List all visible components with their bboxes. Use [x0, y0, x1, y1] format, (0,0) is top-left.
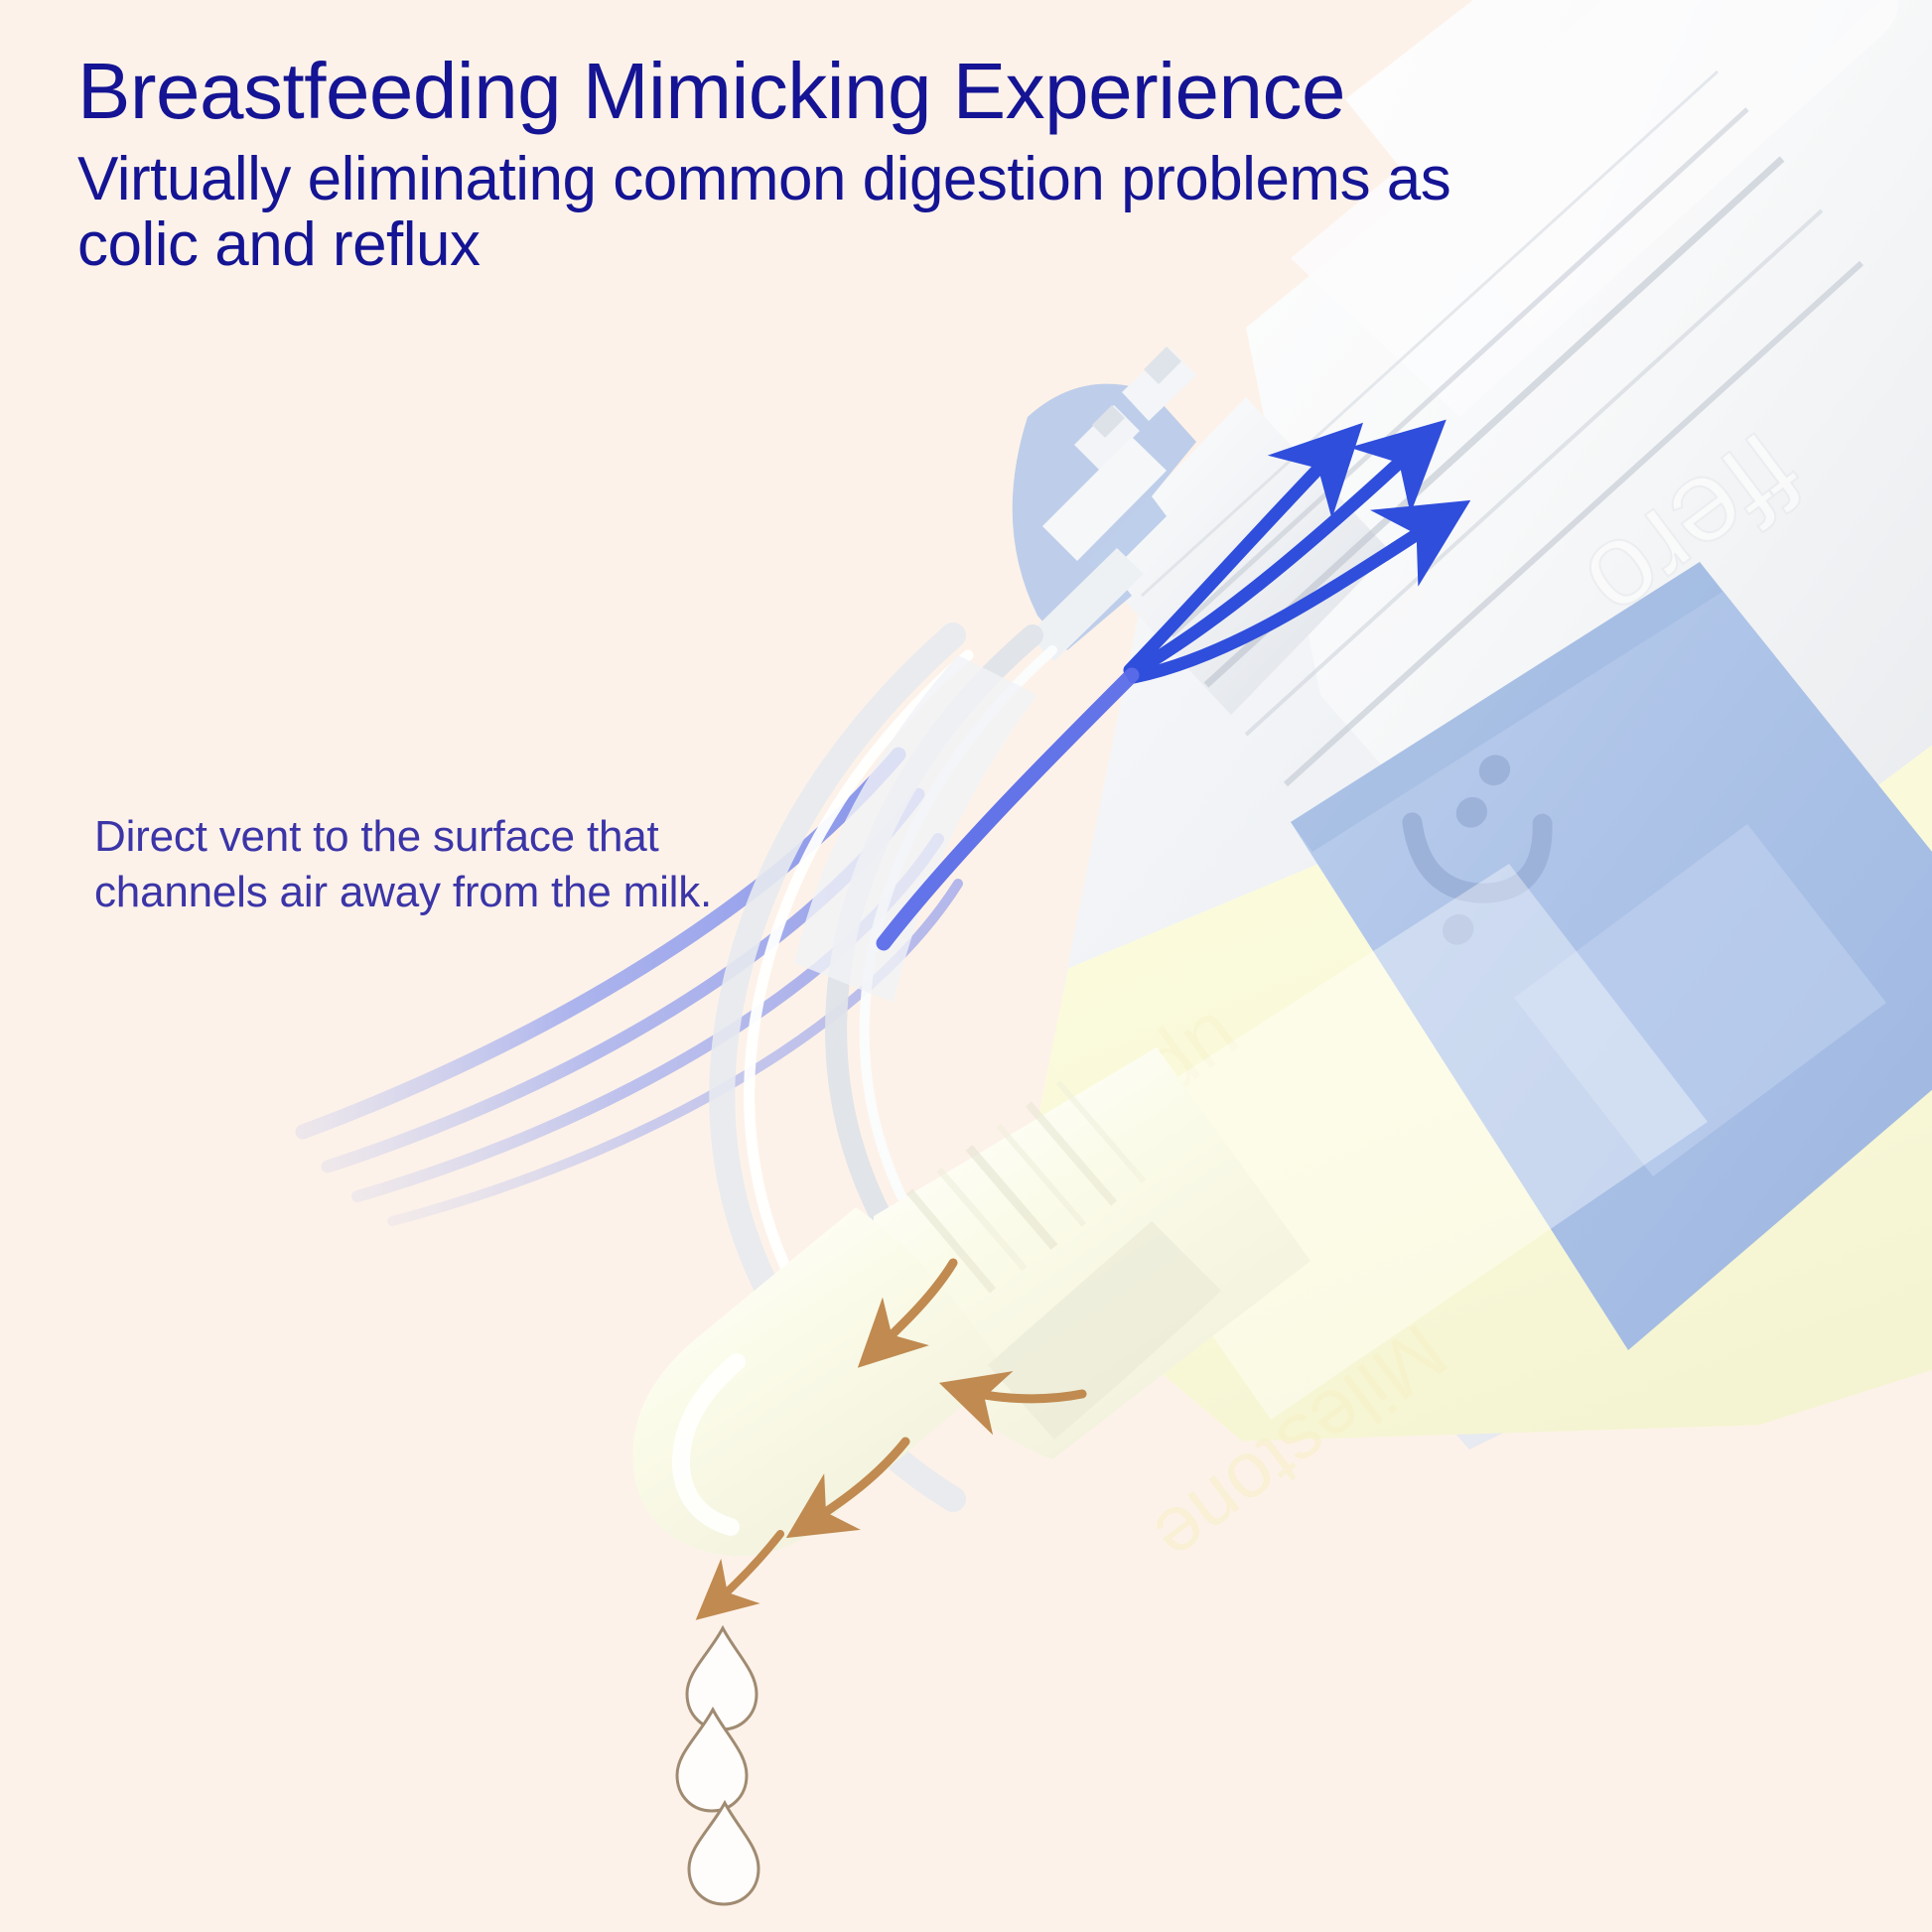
product-infographic: ffero up Milestone: [0, 0, 1932, 1932]
vent-callout-text: Direct vent to the surface that channels…: [94, 809, 730, 921]
callout-block: Direct vent to the surface that channels…: [94, 809, 730, 921]
page-title: Breastfeeding Mimicking Experience: [77, 52, 1487, 131]
headline-block: Breastfeeding Mimicking Experience Virtu…: [77, 52, 1487, 279]
baby-bottle-illustration: ffero up Milestone: [0, 0, 1932, 1932]
page-subtitle: Virtually eliminating common digestion p…: [77, 147, 1457, 279]
